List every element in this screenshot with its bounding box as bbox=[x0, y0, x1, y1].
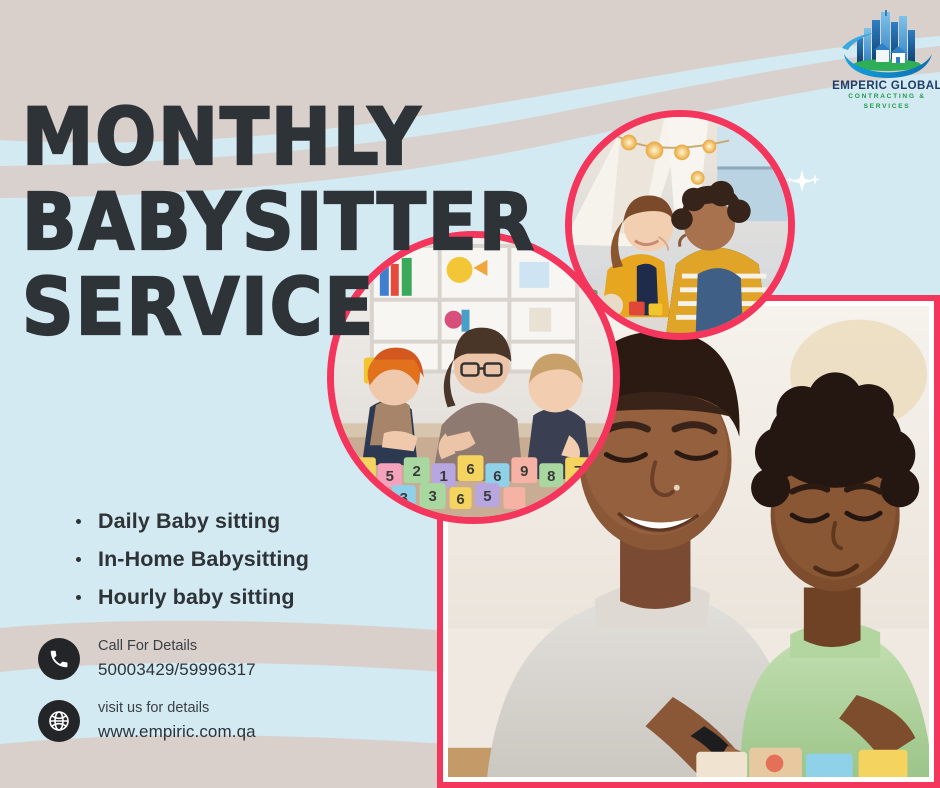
svg-text:5: 5 bbox=[483, 488, 491, 505]
page-title: MONTHLY BABYSITTER SERVICE bbox=[22, 96, 526, 351]
svg-text:3: 3 bbox=[400, 490, 408, 507]
svg-text:8: 8 bbox=[547, 468, 555, 485]
website-label: visit us for details bbox=[98, 698, 256, 719]
svg-text:5: 5 bbox=[386, 468, 394, 485]
headline-line-2: BABYSITTER bbox=[22, 181, 536, 266]
svg-text:6: 6 bbox=[456, 491, 464, 508]
services-list: Daily Baby sitting In-Home Babysitting H… bbox=[72, 502, 309, 616]
logo-name: EMPERIC GLOBAL bbox=[832, 80, 940, 92]
svg-text:2: 2 bbox=[413, 463, 421, 480]
logo-tagline-line1: CONTRACTING & bbox=[848, 92, 925, 102]
phone-number: 50003429/59996317 bbox=[98, 657, 256, 682]
svg-text:1: 1 bbox=[439, 468, 447, 485]
logo-tagline-line2: SERVICES bbox=[864, 102, 911, 112]
svg-text:3: 3 bbox=[428, 488, 436, 505]
phone-icon bbox=[38, 638, 80, 680]
svg-text:6: 6 bbox=[493, 468, 501, 485]
contact-phone-row[interactable]: Call For Details 50003429/59996317 bbox=[38, 636, 256, 682]
globe-icon bbox=[38, 700, 80, 742]
svg-text:9: 9 bbox=[520, 463, 528, 480]
brand-logo: EMPERIC GLOBAL CONTRACTING & SERVICES bbox=[828, 8, 940, 112]
logo-skyline-icon bbox=[828, 10, 940, 80]
svg-text:6: 6 bbox=[466, 461, 474, 478]
photo-circle-top bbox=[565, 110, 795, 340]
list-item: Hourly baby sitting bbox=[72, 578, 309, 616]
headline-line-3: SERVICE bbox=[22, 266, 536, 351]
contact-web-row[interactable]: visit us for details www.empiric.com.qa bbox=[38, 698, 256, 744]
list-item: Daily Baby sitting bbox=[72, 502, 309, 540]
contact-block: Call For Details 50003429/59996317 visit… bbox=[38, 636, 256, 760]
website-url: www.empiric.com.qa bbox=[98, 719, 256, 744]
sparkle-icon bbox=[786, 168, 820, 194]
phone-label: Call For Details bbox=[98, 636, 256, 657]
headline-line-1: MONTHLY bbox=[22, 96, 536, 181]
list-item: In-Home Babysitting bbox=[72, 540, 309, 578]
poster-root: EMPERIC GLOBAL CONTRACTING & SERVICES MO… bbox=[0, 0, 940, 788]
